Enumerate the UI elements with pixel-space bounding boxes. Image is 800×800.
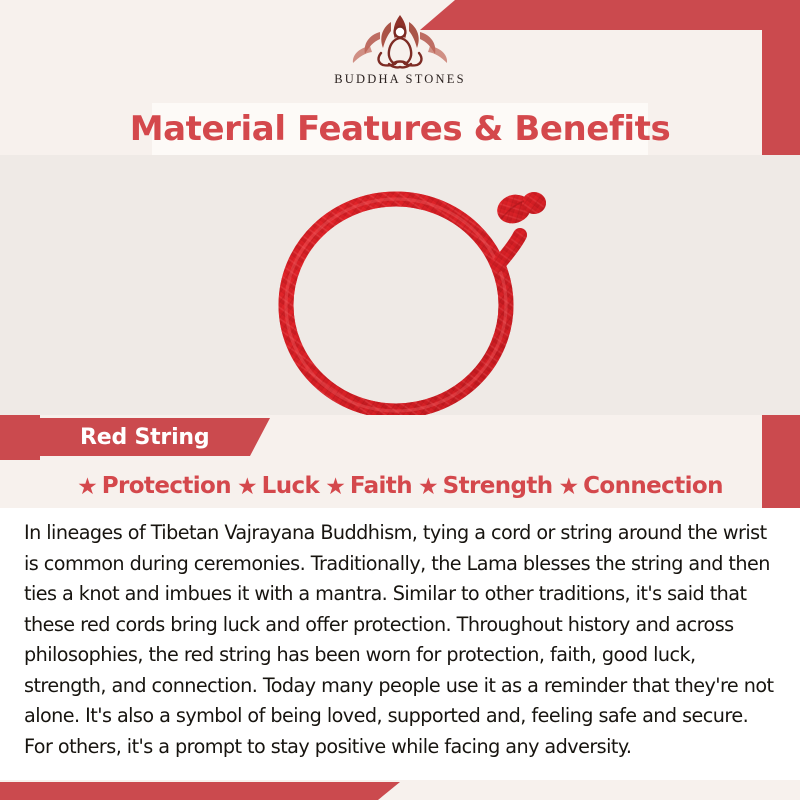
benefit-label: Strength	[443, 473, 553, 499]
benefit-label: Faith	[350, 473, 412, 499]
decoration-bottom-left-bar	[0, 782, 400, 800]
description-block: In lineages of Tibetan Vajrayana Buddhis…	[0, 508, 800, 780]
star-icon: ★	[325, 475, 346, 498]
star-icon: ★	[77, 475, 98, 498]
benefit-item: ★ Protection	[77, 473, 231, 499]
red-braided-cord-bracelet	[262, 155, 562, 415]
brand-logo: BUDDHA STONES	[320, 2, 480, 98]
brand-name: BUDDHA STONES	[334, 72, 466, 87]
star-icon: ★	[418, 475, 439, 498]
benefit-item: ★ Connection	[559, 473, 723, 499]
benefit-label: Connection	[583, 473, 723, 499]
product-name-banner: Red String	[22, 418, 270, 456]
benefit-item: ★ Strength	[418, 473, 553, 499]
benefit-item: ★ Luck	[237, 473, 319, 499]
page-title: Material Features & Benefits	[152, 103, 648, 155]
benefit-label: Luck	[262, 473, 320, 499]
benefit-item: ★ Faith	[325, 473, 412, 499]
star-icon: ★	[559, 475, 580, 498]
description-text: In lineages of Tibetan Vajrayana Buddhis…	[24, 518, 776, 762]
benefit-label: Protection	[102, 473, 231, 499]
product-name-label: Red String	[22, 425, 209, 450]
star-icon: ★	[237, 475, 258, 498]
infographic-page: BUDDHA STONES Material Features & Benefi…	[0, 0, 800, 800]
lotus-meditation-icon	[334, 8, 466, 74]
product-photo-area	[0, 155, 800, 415]
benefits-row: ★ Protection ★ Luck ★ Faith ★ Strength ★…	[0, 466, 800, 506]
brand-header: BUDDHA STONES	[0, 0, 800, 100]
